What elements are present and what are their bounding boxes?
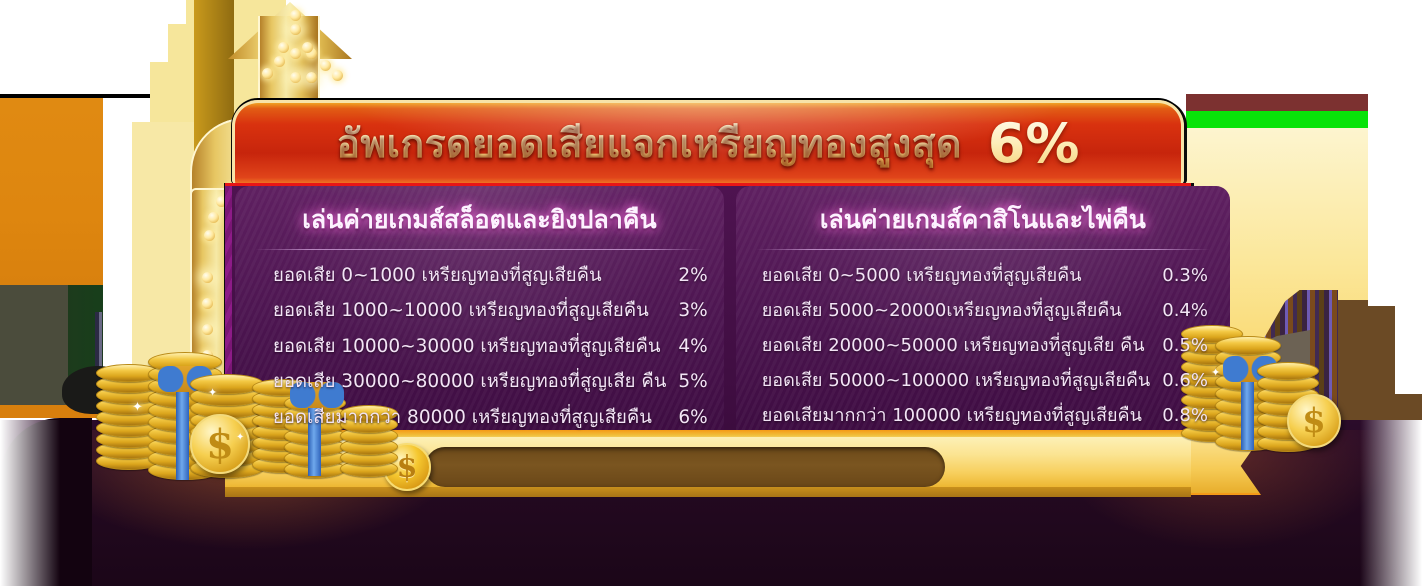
max-percent-badge: 6% <box>988 112 1080 175</box>
rebate-row-percent: 4% <box>666 338 707 357</box>
background-white-right-2 <box>1395 94 1422 394</box>
rebate-row: ยอดเสีย 0~1000 เหรียญทองที่สูญเสียคืน2% <box>251 258 708 294</box>
rebate-row-label: ยอดเสีย 50000~100000 เหรียญทองที่สูญเสีย… <box>762 372 1151 390</box>
marquee-bulb-icon <box>202 298 213 309</box>
rebate-row-percent: 0.6% <box>1150 372 1214 390</box>
promo-header-banner: อัพเกรดยอดเสียแจกเหรียญทองสูงสุด 6% <box>232 100 1184 184</box>
marquee-bulb-icon <box>290 48 301 59</box>
rebate-row-percent: 2% <box>666 267 707 286</box>
rebate-row: ยอดเสียมากกว่า 100000 เหรียญทองที่สูญเสี… <box>752 398 1214 433</box>
rebate-row-label: ยอดเสีย 30000~80000 เหรียญทองที่สูญเสีย … <box>273 373 666 392</box>
gift-ribbon <box>1241 370 1254 450</box>
rebate-row: ยอดเสีย 50000~100000 เหรียญทองที่สูญเสีย… <box>752 363 1214 398</box>
marquee-bulb-icon <box>274 56 285 67</box>
rebate-row-percent: 0.4% <box>1150 302 1214 320</box>
rebate-row: ยอดเสีย 10000~30000 เหรียญทองที่สูญเสียค… <box>251 329 708 365</box>
marquee-bulb-icon <box>290 10 301 21</box>
marquee-bulb-icon <box>302 42 313 53</box>
rebate-row: ยอดเสีย 0~5000 เหรียญทองที่สูญเสียคืน0.3… <box>752 258 1214 293</box>
marquee-bulb-icon <box>320 60 331 71</box>
marquee-bulb-icon <box>306 72 317 83</box>
rebate-row-label: ยอดเสีย 10000~30000 เหรียญทองที่สูญเสียค… <box>273 338 661 357</box>
gold-bar-bottom-lip <box>225 487 1191 497</box>
panels-container: เล่นค่ายเกมส์สล็อตและยิงปลาคืน ยอดเสีย 0… <box>232 186 1184 432</box>
rebate-row-label: ยอดเสีย 1000~10000 เหรียญทองที่สูญเสียคื… <box>273 302 649 321</box>
panel-right-rows: ยอดเสีย 0~5000 เหรียญทองที่สูญเสียคืน0.3… <box>752 258 1214 433</box>
rebate-row-percent: 0.3% <box>1150 267 1214 285</box>
panel-left-heading: เล่นค่ายเกมส์สล็อตและยิงปลาคืน <box>251 200 708 249</box>
rebate-row-percent: 0.5% <box>1150 337 1214 355</box>
marquee-bulb-icon <box>290 24 301 35</box>
rebate-row-label: ยอดเสีย 20000~50000 เหรียญทองที่สูญเสีย … <box>762 337 1145 355</box>
panel-left-divider <box>255 249 704 250</box>
panel-slots-fishing: เล่นค่ายเกมส์สล็อตและยิงปลาคืน ยอดเสีย 0… <box>235 186 724 432</box>
rebate-row-percent: 3% <box>666 302 707 321</box>
promo-banner-stage: อัพเกรดยอดเสียแจกเหรียญทองสูงสุด 6% เล่น… <box>0 0 1422 586</box>
marquee-bulb-icon <box>204 230 215 241</box>
panel-right-divider <box>756 249 1210 250</box>
sparkle-icon: ✦ <box>132 400 143 415</box>
rebate-row-label: ยอดเสียมากกว่า 100000 เหรียญทองที่สูญเสี… <box>762 407 1142 425</box>
dollar-coin-icon: $ <box>1287 394 1341 448</box>
marquee-bulb-icon <box>262 68 273 79</box>
marquee-bulb-icon <box>332 70 343 81</box>
marquee-bulb-icon <box>290 72 301 83</box>
gift-ribbon <box>176 380 189 480</box>
marquee-bulb-icon <box>278 42 289 53</box>
marquee-bulb-icon <box>202 324 213 335</box>
rebate-row: ยอดเสีย 20000~50000 เหรียญทองที่สูญเสีย … <box>752 328 1214 363</box>
rebate-row-percent: 0.8% <box>1150 407 1214 425</box>
rebate-row-label: ยอดเสีย 5000~20000เหรียญทองที่สูญเสียคืน <box>762 302 1122 320</box>
rebate-row: ยอดเสียมากกว่า 80000 เหรียญทองที่สูญเสีย… <box>251 400 708 436</box>
marquee-bulb-icon <box>202 272 213 283</box>
rebate-row-label: ยอดเสีย 0~1000 เหรียญทองที่สูญเสียคืน <box>273 267 602 286</box>
rebate-row: ยอดเสีย 1000~10000 เหรียญทองที่สูญเสียคื… <box>251 294 708 330</box>
footer-input-slot[interactable] <box>425 447 945 487</box>
panel-right-heading: เล่นค่ายเกมส์คาสิโนและไพ่คืน <box>752 200 1214 249</box>
rebate-row-label: ยอดเสีย 0~5000 เหรียญทองที่สูญเสียคืน <box>762 267 1082 285</box>
rebate-row: ยอดเสีย 30000~80000 เหรียญทองที่สูญเสีย … <box>251 365 708 401</box>
rebate-row: ยอดเสีย 5000~20000เหรียญทองที่สูญเสียคืน… <box>752 293 1214 328</box>
dollar-coin-icon: $ <box>190 414 250 474</box>
panel-left-rows: ยอดเสีย 0~1000 เหรียญทองที่สูญเสียคืน2%ย… <box>251 258 708 436</box>
coin <box>1257 362 1319 380</box>
rebate-row-percent: 5% <box>666 373 707 392</box>
page-title: อัพเกรดยอดเสียแจกเหรียญทองสูงสุด <box>337 113 962 175</box>
marquee-bulb-icon <box>208 212 219 223</box>
rebate-row-label: ยอดเสียมากกว่า 80000 เหรียญทองที่สูญเสีย… <box>273 409 652 428</box>
coin <box>1215 336 1281 355</box>
sparkle-icon: ✦ <box>208 386 217 399</box>
rebate-row-percent: 6% <box>666 409 707 428</box>
sparkle-icon: ✦ <box>236 432 244 443</box>
panel-casino-cards: เล่นค่ายเกมส์คาสิโนและไพ่คืน ยอดเสีย 0~5… <box>736 186 1230 432</box>
